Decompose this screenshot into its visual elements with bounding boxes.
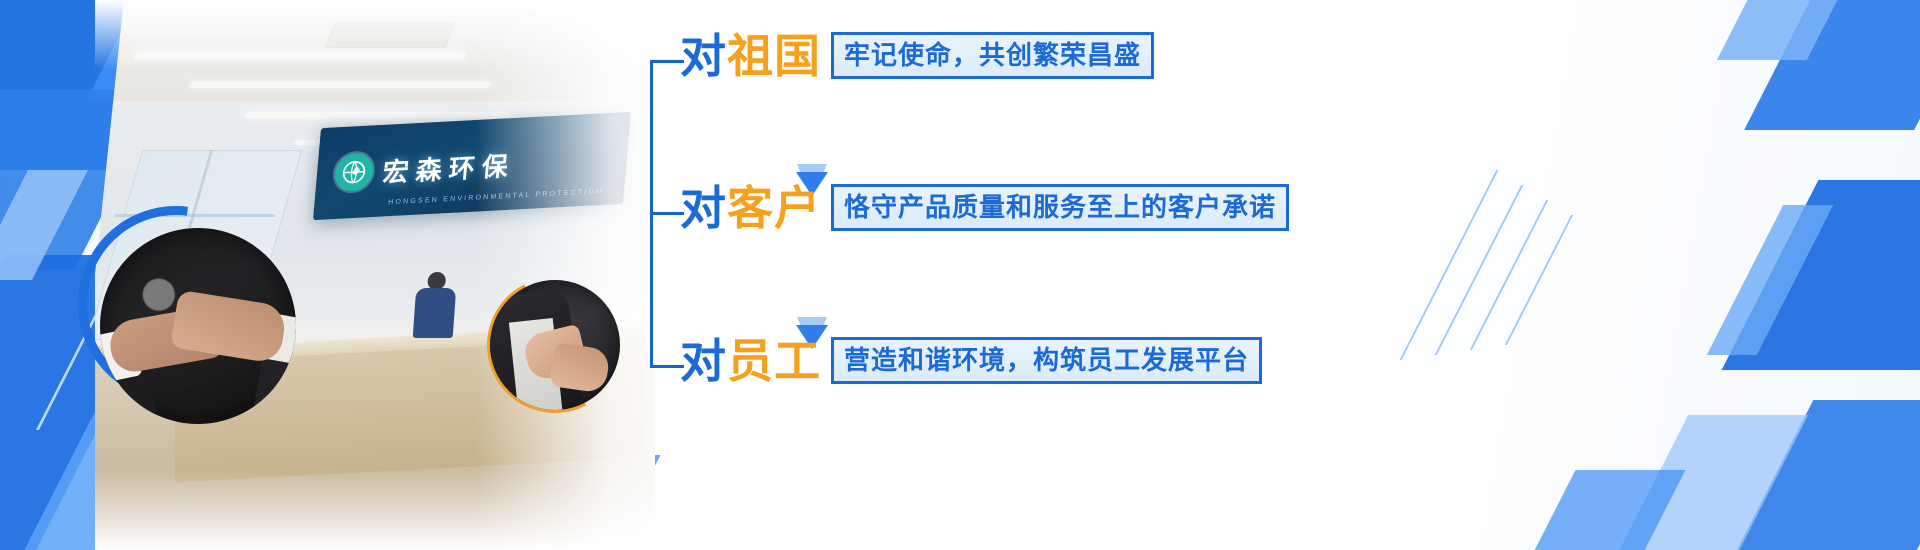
slogan-subject: 员工: [727, 335, 821, 387]
promo-banner: 宏森环保 HONGSEN ENVIRONMENTAL PROTECTION: [0, 0, 1920, 550]
photo-right-fade: [475, 0, 655, 550]
triangle-down-icon-cap: [797, 164, 827, 173]
bracket-branch-2: [650, 212, 684, 215]
receptionist-body: [413, 288, 456, 338]
decor-line-right-1: [1400, 170, 1499, 360]
triangle-down-icon-cap: [797, 317, 827, 326]
applause-photo-small: [490, 280, 620, 410]
bracket-connector: [650, 60, 684, 368]
receptionist-figure: [411, 272, 460, 338]
slogan-subject: 客户: [727, 182, 821, 234]
slogan-prefix: 对: [680, 30, 727, 82]
slogan-heading-customer: 对客户: [680, 185, 827, 231]
slogan-tag-customer: 恪守产品质量和服务至上的客户承诺: [831, 184, 1289, 231]
globe-leaf-icon: [333, 152, 374, 192]
slogan-group: 对祖国 牢记使命，共创繁荣昌盛 对客户 恪守产品质量和服务至上的客户承诺 对员工…: [650, 60, 1390, 430]
slogan-row-employee: 对员工 营造和谐环境，构筑员工发展平台: [680, 337, 1262, 384]
slogan-tag-employee: 营造和谐环境，构筑员工发展平台: [831, 337, 1262, 384]
bracket-branch-3: [650, 365, 684, 368]
slogan-heading-country: 对祖国: [680, 33, 827, 79]
slogan-prefix: 对: [680, 182, 727, 234]
slogan-subject: 祖国: [727, 30, 821, 82]
decor-line-right-3: [1470, 200, 1548, 350]
decor-line-right-4: [1505, 215, 1573, 345]
handshake-photo-large: [100, 228, 296, 424]
slogan-row-customer: 对客户 恪守产品质量和服务至上的客户承诺: [680, 184, 1289, 231]
slogan-prefix: 对: [680, 335, 727, 387]
slogan-row-country: 对祖国 牢记使命，共创繁荣昌盛: [680, 32, 1154, 79]
slogan-tag-country: 牢记使命，共创繁荣昌盛: [831, 32, 1154, 79]
hand-clapping-right: [549, 342, 611, 393]
slogan-heading-employee: 对员工: [680, 338, 827, 384]
ceiling-light-strip: [244, 112, 511, 118]
bracket-branch-1: [650, 60, 684, 63]
ceiling-light-strip: [189, 82, 491, 88]
